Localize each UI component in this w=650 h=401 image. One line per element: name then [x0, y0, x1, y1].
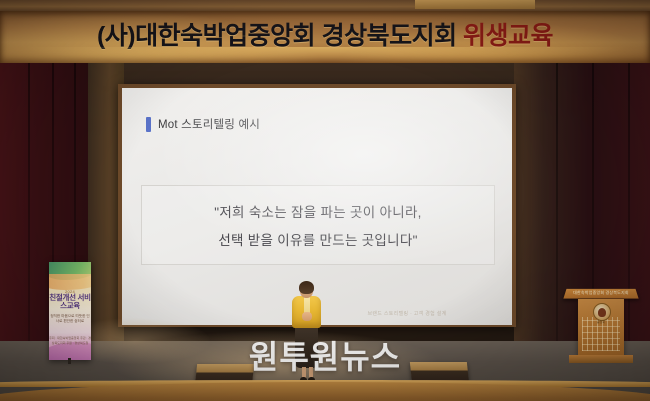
curtain-fold	[628, 63, 630, 341]
slide-title: Mot 스토리텔링 예시	[158, 116, 260, 132]
standee-subtitle: 정직한 마음으로 따뜻한 인사로 편안한 쉼터로	[49, 314, 91, 325]
slide-quote-line-1: "저희 숙소는 잠을 파는 곳이 아니라,	[214, 201, 421, 221]
stage-photo: (사)대한숙박업중앙회 경상북도지회 위생교육 Mot 스토리텔링 예시 "저희…	[0, 0, 650, 401]
standee-orange-wave	[49, 274, 91, 290]
event-banner-accent-text: 위생교육	[463, 22, 553, 50]
standee-title: 친절개선 서비스교육	[49, 294, 91, 310]
event-banner: (사)대한숙박업중앙회 경상북도지회 위생교육	[0, 11, 650, 63]
curtain-fold	[28, 63, 30, 341]
ceiling-light-box	[415, 0, 535, 9]
slide-quote-box: "저희 숙소는 잠을 파는 곳이 아니라, 선택 받을 이유를 만드는 곳입니다…	[141, 185, 495, 265]
podium-emblem-icon	[593, 303, 611, 321]
event-banner-text: (사)대한숙박업중앙회 경상북도지회 위생교육	[0, 24, 650, 49]
speaker-hands	[302, 312, 312, 321]
projection-screen: Mot 스토리텔링 예시 "저희 숙소는 잠을 파는 곳이 아니라, 선택 받을…	[122, 88, 512, 325]
podium-emblem-label: 중앙회	[593, 320, 609, 324]
podium-emblem-inner-mark	[598, 308, 606, 317]
podium-top-label: 대한숙박업중앙회 경상북도지회	[565, 290, 637, 296]
slide-quote-line-2: 선택 받을 이유를 만드는 곳입니다"	[218, 229, 417, 249]
news-watermark: 원투원뉴스	[0, 332, 650, 378]
curtain-fold	[556, 63, 558, 341]
slide-footnote: 브랜드 스토리텔링 · 고객 경험 설계	[322, 310, 492, 317]
slide-title-accent-bar	[146, 117, 151, 132]
speaker-hair	[299, 281, 314, 294]
banner-spotlight-glow	[0, 47, 650, 63]
slide-title-row: Mot 스토리텔링 예시	[146, 116, 260, 132]
event-banner-main-text: (사)대한숙박업중앙회 경상북도지회	[97, 22, 463, 50]
